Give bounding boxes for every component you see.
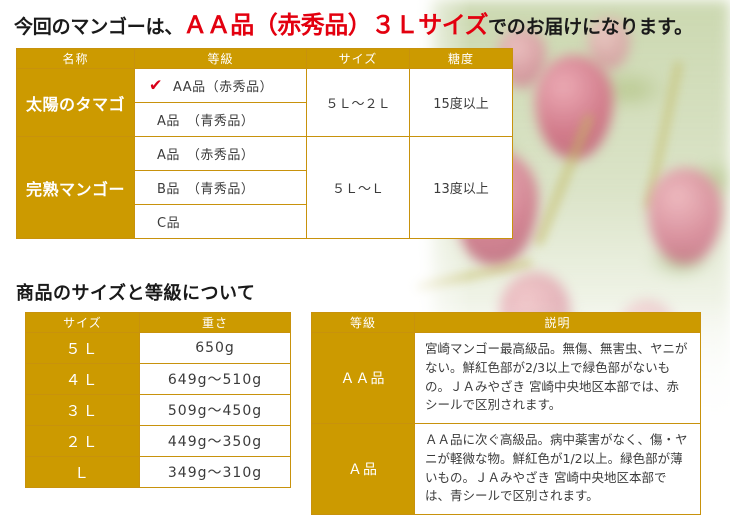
column-header-weight: 重さ [140, 313, 291, 333]
grade-description-a: ＡＡ品に次ぐ高級品。病中薬害がなく、傷・ヤニが軽微な物。鮮紅色が1/2以上。緑色… [415, 424, 701, 515]
column-header-grade: 等級 [312, 313, 415, 333]
size-label-4l: ４Ｌ [26, 364, 140, 395]
grade-description-table: 等級 説明 ＡＡ品 宮崎マンゴー最高級品。無傷、無害虫、ヤニがない。鮮紅色部が2… [311, 312, 701, 515]
table-row: ４Ｌ 649g～510g [26, 364, 291, 395]
grade-overview-table: 名称 等級 サイズ 糖度 太陽のタマゴ ✔AA品（赤秀品） ５Ｌ～２Ｌ 15度以… [16, 48, 513, 239]
column-header-sugar: 糖度 [410, 49, 513, 69]
size-label-2l: ２Ｌ [26, 426, 140, 457]
table-header-row: 等級 説明 [312, 313, 701, 333]
size-label-3l: ３Ｌ [26, 395, 140, 426]
headline-emphasis: ＡＡ品（赤秀品）３Ｌサイズ [183, 11, 488, 39]
column-header-size: サイズ [307, 49, 410, 69]
grade-label: B品 （青秀品） [157, 182, 254, 197]
grade-label: A品 （青秀品） [157, 114, 254, 129]
table-row: Ａ品 ＡＡ品に次ぐ高級品。病中薬害がなく、傷・ヤニが軽微な物。鮮紅色が1/2以上… [312, 424, 701, 515]
grade-description-aa: 宮崎マンゴー最高級品。無傷、無害虫、ヤニがない。鮮紅色部が2/3以上で緑色部がな… [415, 333, 701, 424]
table-header-row: 名称 等級 サイズ 糖度 [17, 49, 513, 69]
size-weight-table: サイズ 重さ ５Ｌ 650g ４Ｌ 649g～510g ３Ｌ 509g～450g… [25, 312, 291, 488]
grade-label: C品 [157, 216, 180, 231]
product-name-kanjuku-mango: 完熟マンゴー [17, 137, 135, 239]
section-title-size-and-grade: 商品のサイズと等級について [16, 279, 255, 305]
table-row: Ｌ 349g～310g [26, 457, 291, 488]
weight-value-5l: 650g [140, 333, 291, 364]
size-range-taiyo: ５Ｌ～２Ｌ [307, 69, 410, 137]
table-row: ３Ｌ 509g～450g [26, 395, 291, 426]
table-row: ５Ｌ 650g [26, 333, 291, 364]
check-mark-icon: ✔ [149, 77, 163, 93]
size-label-5l: ５Ｌ [26, 333, 140, 364]
column-header-description: 説明 [415, 313, 701, 333]
headline-prefix: 今回のマンゴーは、 [14, 16, 183, 38]
column-header-grade: 等級 [135, 49, 307, 69]
grade-label: A品 （赤秀品） [157, 148, 254, 163]
column-header-name: 名称 [17, 49, 135, 69]
grade-cell-b-blue[interactable]: B品 （青秀品） [135, 171, 307, 205]
headline-suffix: でのお届けになります。 [488, 16, 693, 38]
weight-value-4l: 649g～510g [140, 364, 291, 395]
weight-value-l: 349g～310g [140, 457, 291, 488]
table-row: 完熟マンゴー A品 （赤秀品） ５Ｌ～Ｌ 13度以上 [17, 137, 513, 171]
grade-cell-a-red[interactable]: A品 （赤秀品） [135, 137, 307, 171]
table-row: 太陽のタマゴ ✔AA品（赤秀品） ５Ｌ～２Ｌ 15度以上 [17, 69, 513, 103]
grade-cell-a-blue[interactable]: A品 （青秀品） [135, 103, 307, 137]
sugar-level-taiyo: 15度以上 [410, 69, 513, 137]
grade-cell-c[interactable]: C品 [135, 205, 307, 239]
weight-value-2l: 449g～350g [140, 426, 291, 457]
sugar-level-kanjuku: 13度以上 [410, 137, 513, 239]
table-header-row: サイズ 重さ [26, 313, 291, 333]
grade-label: AA品（赤秀品） [173, 80, 273, 95]
table-row: ＡＡ品 宮崎マンゴー最高級品。無傷、無害虫、ヤニがない。鮮紅色部が2/3以上で緑… [312, 333, 701, 424]
column-header-size: サイズ [26, 313, 140, 333]
grade-name-aa: ＡＡ品 [312, 333, 415, 424]
table-row: ２Ｌ 449g～350g [26, 426, 291, 457]
product-name-taiyo-no-tamago: 太陽のタマゴ [17, 69, 135, 137]
size-label-l: Ｌ [26, 457, 140, 488]
grade-cell-aa-red-selected[interactable]: ✔AA品（赤秀品） [135, 69, 307, 103]
size-range-kanjuku: ５Ｌ～Ｌ [307, 137, 410, 239]
page-headline: 今回のマンゴーは、ＡＡ品（赤秀品）３Ｌサイズでのお届けになります。 [14, 10, 693, 42]
grade-name-a: Ａ品 [312, 424, 415, 515]
weight-value-3l: 509g～450g [140, 395, 291, 426]
